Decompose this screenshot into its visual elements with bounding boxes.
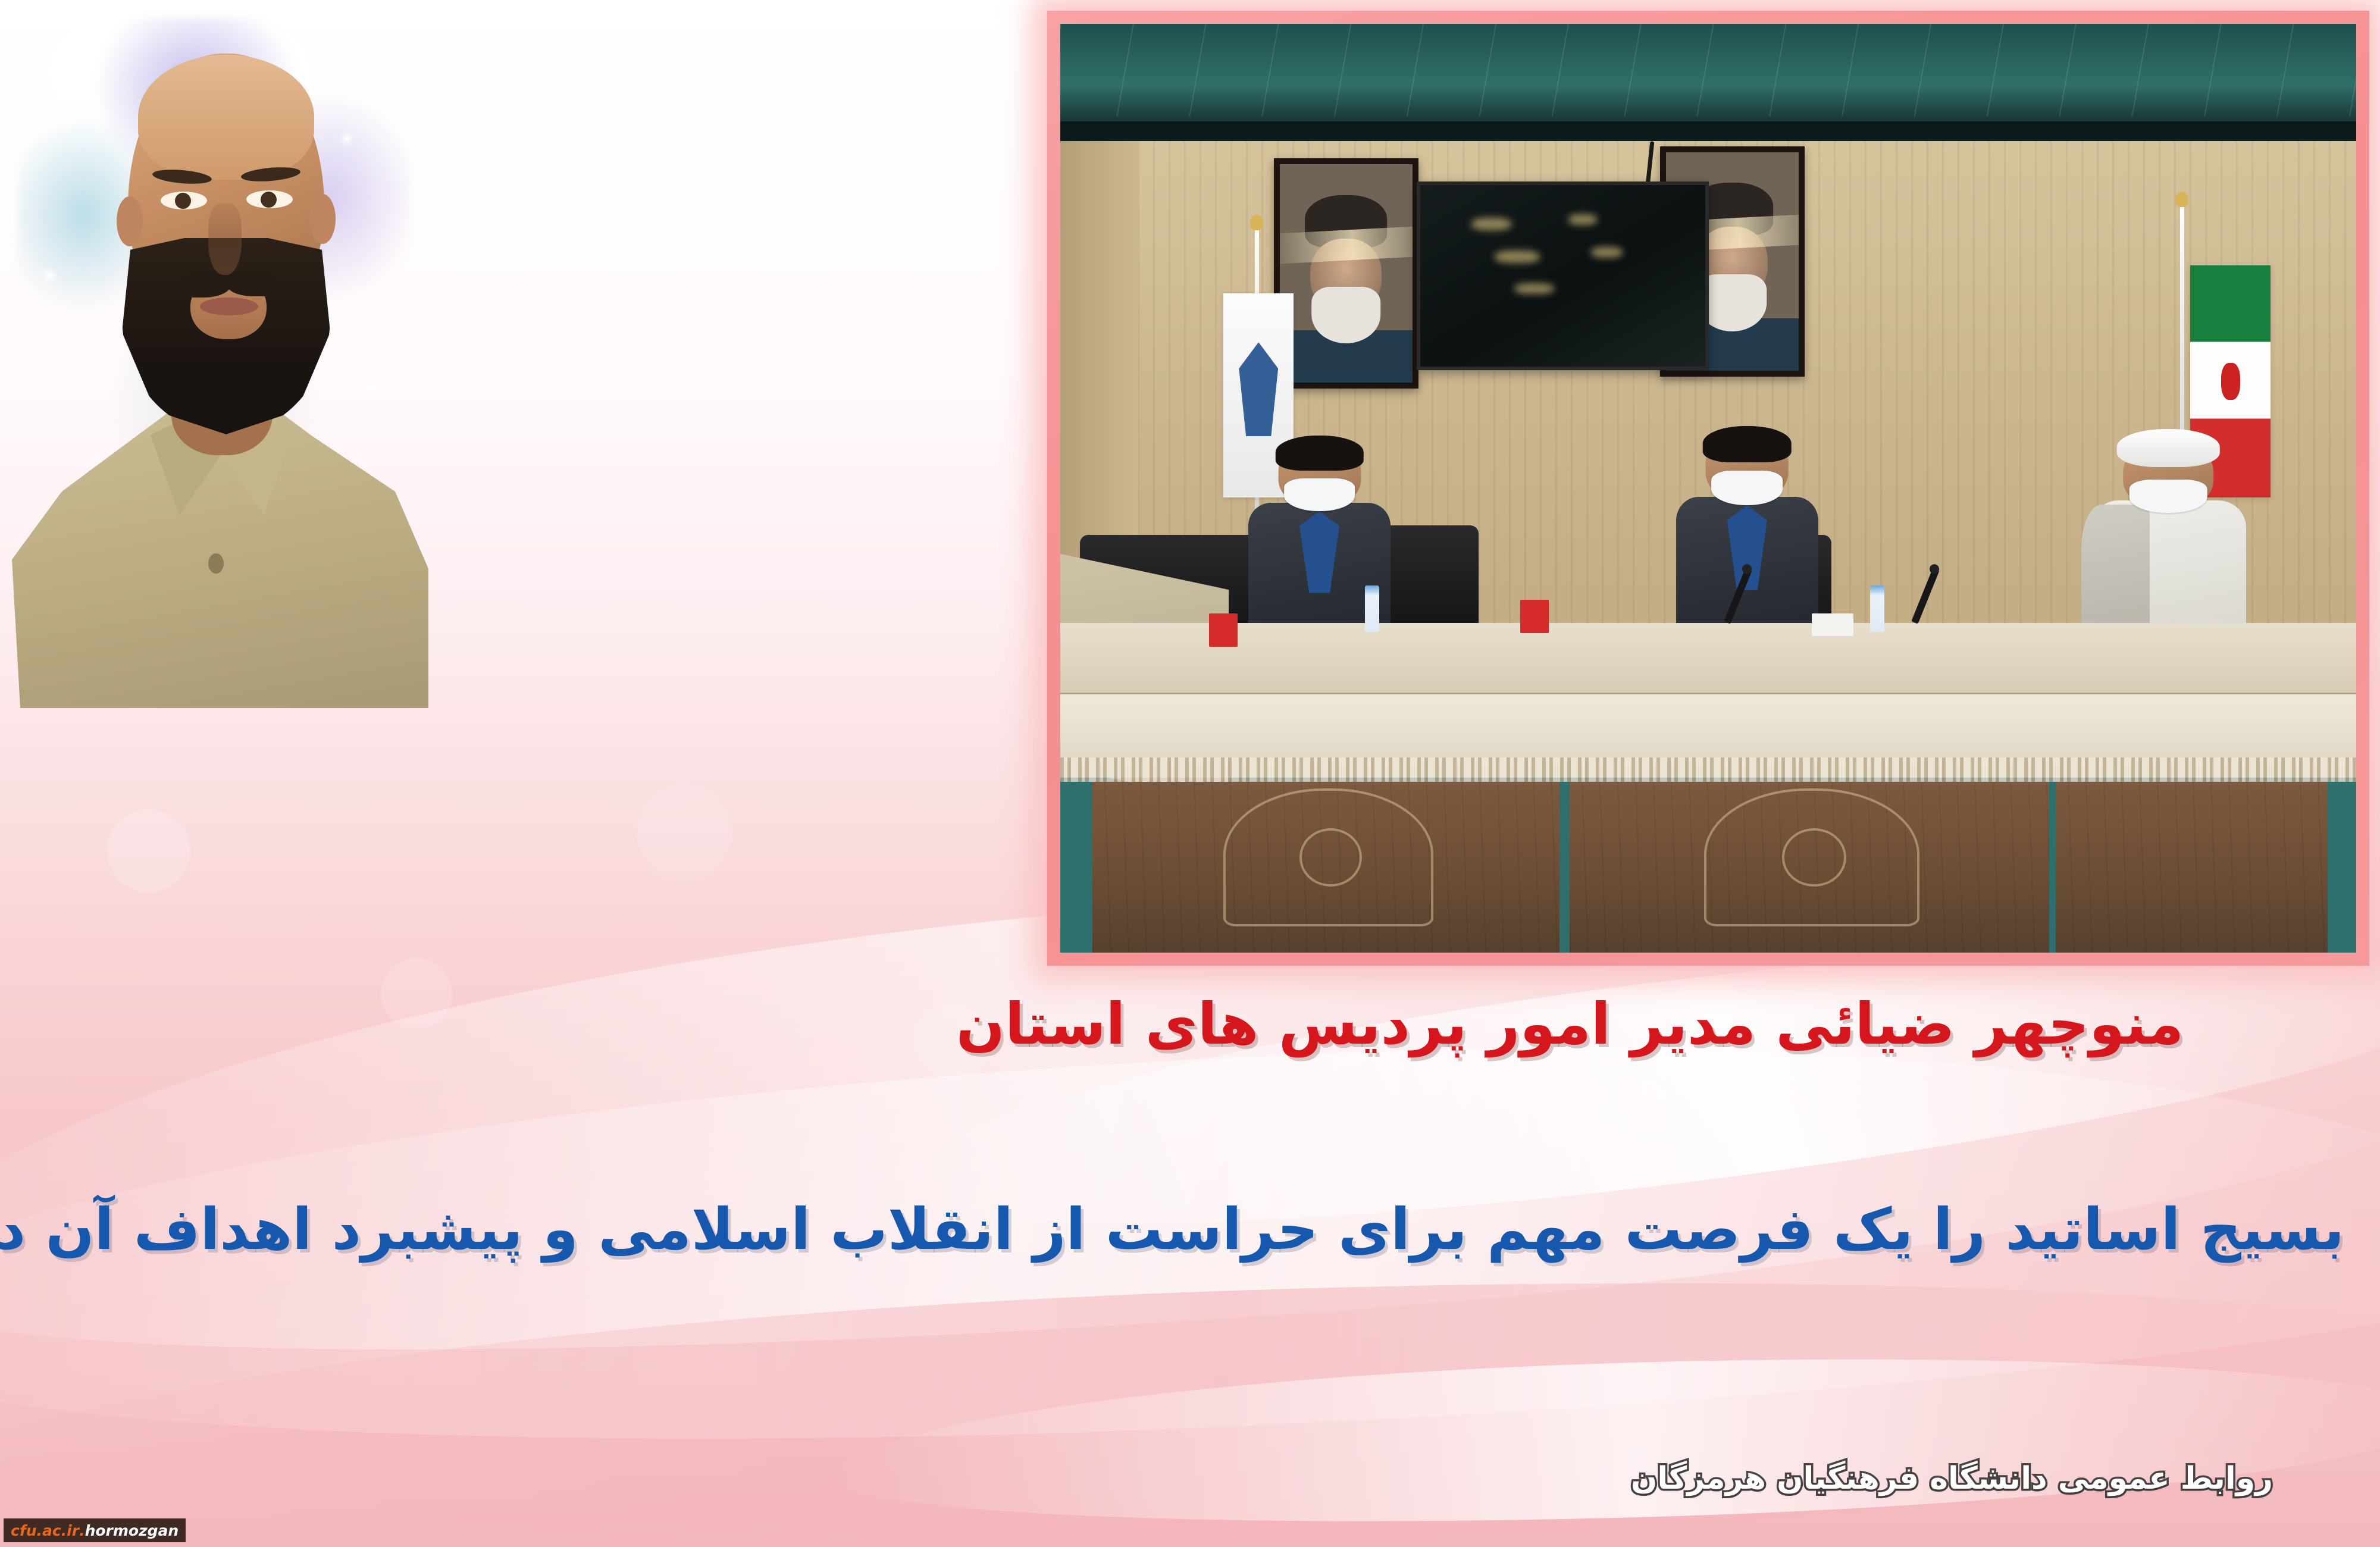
tv-reflection [1514,283,1554,294]
portrait-lips [200,297,258,315]
photo-ceiling-grid [1060,24,2356,117]
university-emblem-icon [1223,788,1433,926]
face-mask-icon [2130,480,2207,513]
wall-television [1417,181,1709,369]
portrait-frame-glare [1274,226,1418,265]
tv-reflection [1591,247,1623,258]
portrait-frame-beard [1312,287,1381,343]
seated-person-center [1676,433,1819,646]
face-mask-icon [1711,471,1783,505]
face-mask-icon [1284,478,1355,511]
desk-nameplate [1209,613,1238,647]
chamran-portrait [12,18,428,708]
watermark-site-name: hormozgan [85,1523,179,1538]
person-hair [1275,436,1364,470]
portrait-forehead [138,55,314,180]
caption-body: بسیج اساتید را یک فرصت مهم برای حراست از… [36,1196,2344,1263]
seated-person-cleric [2091,441,2246,650]
portrait-ear-right [309,194,336,244]
tv-reflection [1568,214,1597,225]
portrait-button [208,553,224,574]
table-panel [1092,782,1559,953]
event-photo [1060,24,2356,953]
cleric-turban [2117,429,2219,466]
table-panel [2056,782,2328,953]
site-watermark: hormozgan.cfu.ac.ir [4,1518,186,1542]
poster-root: سالگرد شهادت دکتر مصطفی چمران، روز بسیج … [0,0,2380,1547]
table-panel [1570,782,2049,953]
iran-emblem-icon [2221,363,2240,400]
table-trim-pattern [1060,757,2356,782]
portrait-ear-left [117,196,143,246]
tv-reflection [1495,250,1540,263]
portrait-iris-left [175,193,191,209]
portrait-iris-right [261,192,277,208]
university-logo-icon [1239,342,1278,436]
paper-sheet [1812,613,1853,635]
portrait-nose [208,203,242,275]
caption-headline: منوچهر ضیائی مدیر امور پردیس های استان [220,991,2184,1057]
person-hair [1703,426,1792,462]
desk-nameplate [1520,600,1549,633]
university-emblem-icon [1704,788,1920,926]
wall-portrait-khomeini [1274,158,1418,389]
public-relations-credit: روابط عمومی دانشگاه فرهنگیان هرمزگان [1631,1461,2273,1496]
water-bottle [1365,585,1379,632]
tv-reflection [1471,218,1511,230]
flag-finial-icon [2175,192,2188,207]
portrait-figure [12,18,428,708]
flag-finial-icon [1250,215,1263,230]
event-photo-frame [1047,11,2369,966]
water-bottle [1870,585,1884,632]
watermark-site-domain: .cfu.ac.ir [11,1523,85,1538]
